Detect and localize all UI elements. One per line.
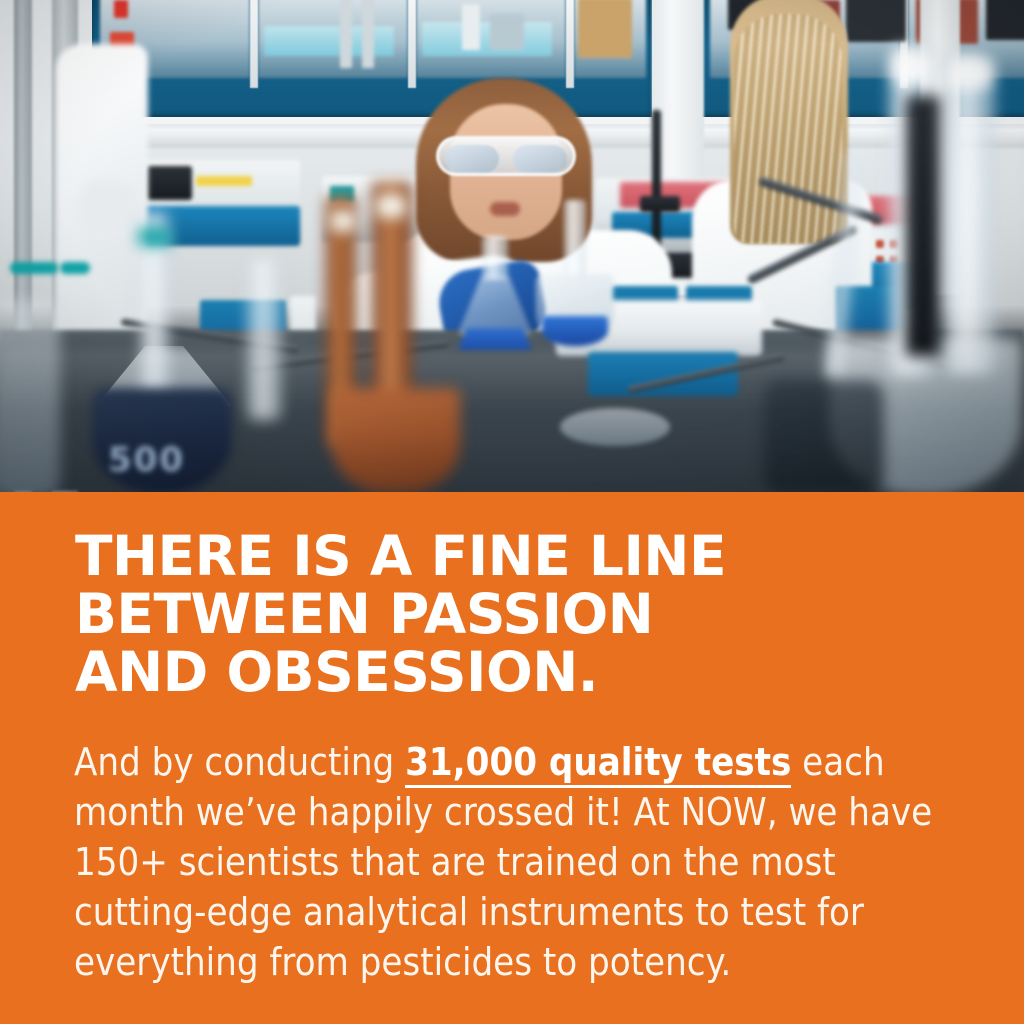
flask-stopper xyxy=(948,58,992,90)
page-title: THERE IS A FINE LINE BETWEEN PASSION AND… xyxy=(75,527,975,701)
foreground-dark-blob xyxy=(764,380,884,492)
glassware-teal-band xyxy=(138,228,172,246)
lab-photo: 500 xyxy=(0,0,1024,492)
foreground-glass-edge xyxy=(246,260,282,420)
flask-stopper xyxy=(376,194,406,218)
body-paragraph: And by conducting 31,000 quality tests e… xyxy=(74,737,954,987)
flask-volume-label: 500 xyxy=(108,440,185,480)
foreground-glass-edge xyxy=(0,300,60,492)
dark-rack xyxy=(906,96,940,356)
flask-stopper xyxy=(892,50,932,84)
headline-line-1: THERE IS A FINE LINE xyxy=(75,527,975,585)
ad-creative: 500 THERE IS A FINE LINE BETWEEN PASSION… xyxy=(0,0,1024,1024)
graduated-cylinder xyxy=(944,54,996,374)
amber-volumetric-flask xyxy=(332,388,460,492)
body-text-before: And by conducting xyxy=(74,740,405,784)
headline-line-2: BETWEEN PASSION xyxy=(75,585,975,643)
stat-highlight: 31,000 quality tests xyxy=(405,740,791,788)
foreground-glassware: 500 xyxy=(0,0,1024,492)
flask-stopper xyxy=(330,210,356,232)
headline-line-3: AND OBSESSION. xyxy=(75,643,975,701)
